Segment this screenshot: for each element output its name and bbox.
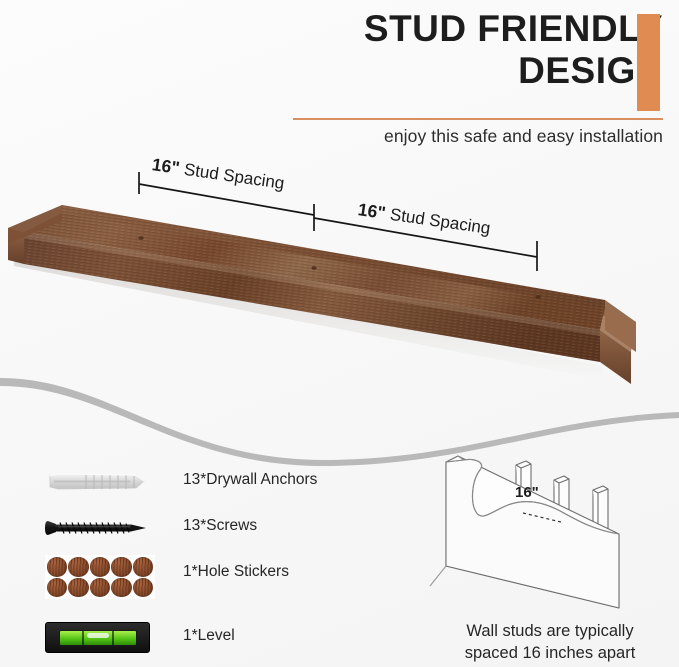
stud-diagram-caption: Wall studs are typically spaced 16 inche…	[425, 620, 675, 664]
screw-hole	[311, 266, 316, 269]
product-infographic: STUD FRIENDLY DESIGN enjoy this safe and…	[0, 0, 679, 667]
drywall-anchor-icon	[40, 462, 170, 502]
stud	[593, 486, 608, 561]
caption-line-1: Wall studs are typically	[425, 620, 675, 642]
screw-hole	[535, 295, 540, 298]
part-label: 1*Hole Stickers	[183, 563, 289, 581]
part-row-level: 1*Level	[40, 618, 340, 658]
hole-stickers-icon	[40, 554, 170, 594]
part-label: 13*Screws	[183, 517, 257, 535]
part-row-drywall-anchors: 13*Drywall Anchors	[40, 462, 340, 502]
part-row-screws: 13*Screws	[40, 508, 340, 548]
measure-leader	[523, 513, 561, 522]
shelf-illustration	[0, 0, 679, 400]
stud	[554, 476, 569, 554]
stud-measure-label: 16"	[515, 484, 539, 501]
part-label: 1*Level	[183, 627, 235, 645]
caption-line-2: spaced 16 inches apart	[425, 642, 675, 664]
part-row-hole-stickers: 1*Hole Stickers	[40, 554, 340, 594]
screw-hole	[138, 236, 143, 239]
part-label: 13*Drywall Anchors	[183, 471, 317, 489]
level-icon	[40, 618, 170, 658]
screw-icon	[40, 508, 170, 548]
